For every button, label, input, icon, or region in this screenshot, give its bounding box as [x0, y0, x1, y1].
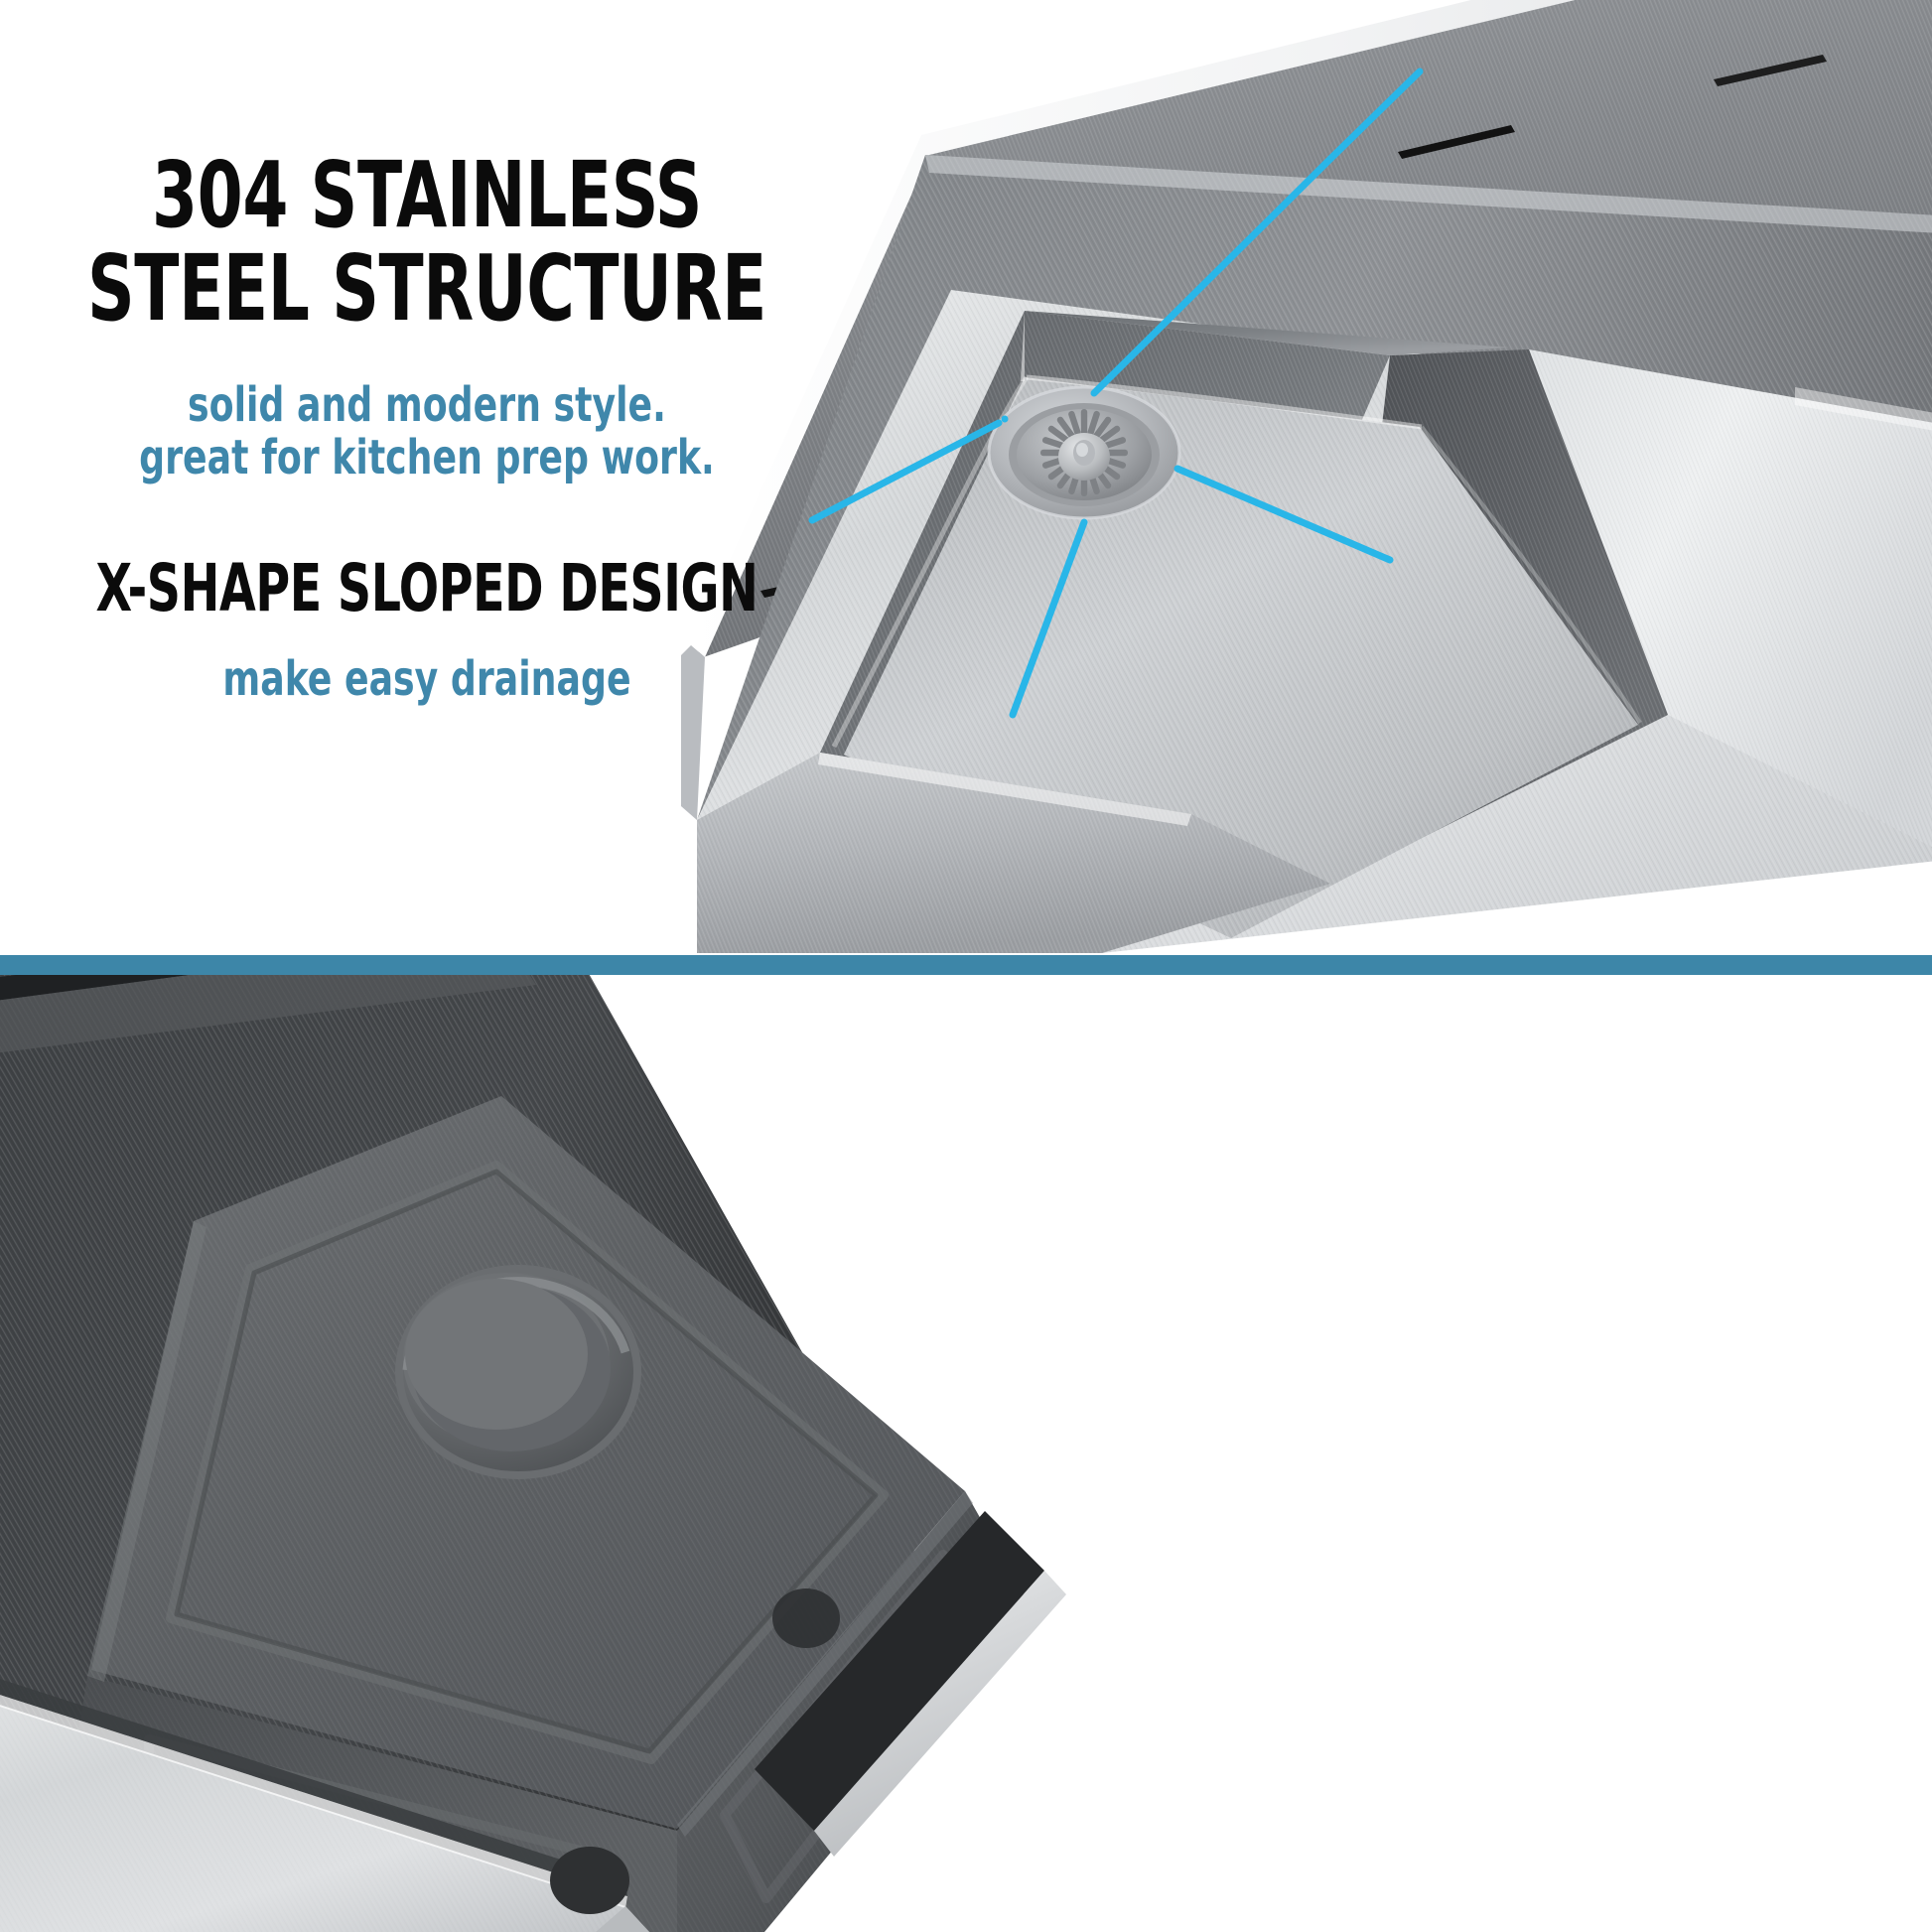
infographic-page: 304 STAINLESS STEEL STRUCTURE solid and …: [0, 0, 1932, 1932]
top-subtext-group: solid and modern style. great for kitche…: [0, 379, 854, 486]
coated-sink-underside-image: [0, 975, 1092, 1932]
top-subtext-2: make easy drainage: [69, 653, 785, 707]
top-headline-group: 304 STAINLESS STEEL STRUCTURE: [0, 149, 854, 336]
top-subtext-2-group: make easy drainage: [0, 653, 854, 707]
top-headline-line2: STEEL STRUCTURE: [85, 242, 768, 336]
top-feature-panel: 304 STAINLESS STEEL STRUCTURE solid and …: [0, 0, 1932, 955]
top-headline-line1: 304 STAINLESS: [85, 149, 768, 242]
top-subtext-line2: great for kitchen prep work.: [69, 432, 785, 485]
top-headline-2: X-SHAPE SLOPED DESIGN: [85, 555, 768, 621]
section-divider: [0, 955, 1932, 975]
top-subtext-line1: solid and modern style.: [69, 379, 785, 433]
bottom-feature-panel: MOISTUREPROOF COATING also reduce the no…: [0, 975, 1932, 1932]
top-copy-block: 304 STAINLESS STEEL STRUCTURE solid and …: [0, 149, 854, 707]
drain-knockout-hole: [395, 1265, 641, 1479]
